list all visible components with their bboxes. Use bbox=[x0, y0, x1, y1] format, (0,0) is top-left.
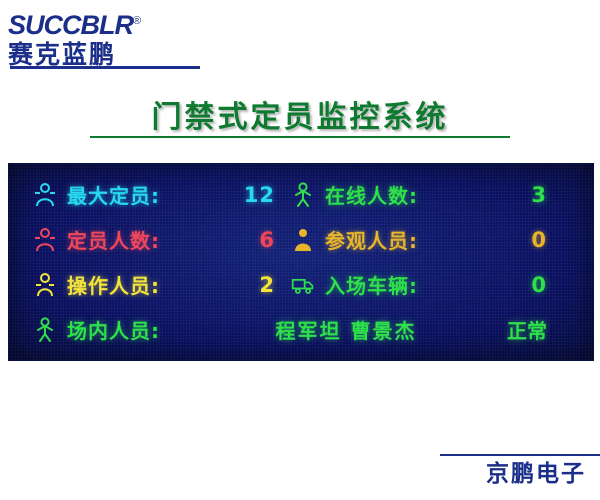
person-visitor-icon bbox=[291, 227, 315, 253]
person-standing-icon bbox=[33, 317, 57, 343]
title-underline bbox=[90, 136, 510, 138]
operator-count-value: 2 bbox=[217, 273, 289, 297]
row2-left-icon-cell bbox=[31, 227, 67, 253]
row1-right-icon-cell bbox=[289, 182, 325, 208]
registered-trademark-icon: ® bbox=[133, 15, 140, 27]
online-count-label: 在线人数: bbox=[325, 180, 475, 209]
person-worker-icon bbox=[33, 272, 57, 298]
onsite-personnel-label: 场内人员: bbox=[67, 315, 217, 344]
visitor-count-value: 0 bbox=[475, 228, 561, 252]
row3-right-icon-cell bbox=[289, 272, 325, 298]
vehicle-count-label: 入场车辆: bbox=[325, 270, 475, 299]
logo-underline bbox=[10, 66, 200, 69]
current-capacity-label: 定员人数: bbox=[67, 225, 217, 254]
onsite-personnel-names: 程军坦 曹景杰 bbox=[217, 315, 475, 344]
led-display-panel: 最大定员: 12 在线人数: 3 定员人数: 6 bbox=[8, 163, 594, 361]
logo-latin-label: SUCCBLR bbox=[8, 10, 133, 40]
vehicle-count-value: 0 bbox=[475, 273, 561, 297]
logo-latin-text: SUCCBLR® bbox=[8, 6, 228, 40]
row3-left-icon-cell bbox=[31, 272, 67, 298]
status-badge: 正常 bbox=[475, 315, 561, 344]
max-capacity-label: 最大定员: bbox=[67, 180, 217, 209]
row1-left-icon-cell bbox=[31, 182, 67, 208]
person-head-icon bbox=[33, 227, 57, 253]
truck-icon bbox=[291, 272, 315, 298]
operator-count-label: 操作人员: bbox=[67, 270, 217, 299]
online-count-value: 3 bbox=[475, 183, 561, 207]
row4-left-icon-cell bbox=[31, 317, 67, 343]
current-capacity-value: 6 bbox=[217, 228, 289, 252]
led-content-grid: 最大定员: 12 在线人数: 3 定员人数: 6 bbox=[9, 164, 593, 360]
logo-chinese-label: 赛克蓝鹏 bbox=[8, 41, 228, 69]
page-title: 门禁式定员监控系统 bbox=[0, 92, 600, 136]
company-logo: SUCCBLR® 赛克蓝鹏 bbox=[8, 6, 228, 68]
footer-company-label: 京鹏电子 bbox=[486, 454, 586, 488]
max-capacity-value: 12 bbox=[217, 183, 289, 207]
row2-right-icon-cell bbox=[289, 227, 325, 253]
person-head-icon bbox=[33, 182, 57, 208]
visitor-count-label: 参观人员: bbox=[325, 225, 475, 254]
person-standing-icon bbox=[291, 182, 315, 208]
